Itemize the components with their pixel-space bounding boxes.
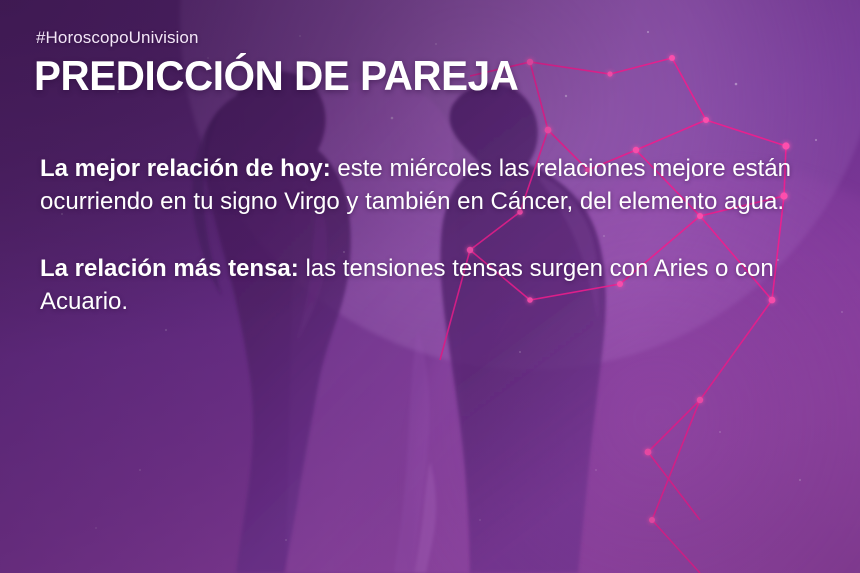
body-copy: La mejor relación de hoy: este miércoles… <box>34 152 826 318</box>
hashtag-label: #HoroscopoUnivision <box>36 28 826 48</box>
paragraph-tense-relationship: La relación más tensa: las tensiones ten… <box>40 252 826 318</box>
paragraph-lead-tense: La relación más tensa: <box>40 255 299 282</box>
paragraph-lead-best: La mejor relación de hoy: <box>40 155 331 182</box>
paragraph-best-relationship: La mejor relación de hoy: este miércoles… <box>40 152 826 218</box>
card-content: #HoroscopoUnivision PREDICCIÓN DE PAREJA… <box>0 0 860 573</box>
horoscope-card: #HoroscopoUnivision PREDICCIÓN DE PAREJA… <box>0 0 860 573</box>
page-title: PREDICCIÓN DE PAREJA <box>34 54 794 98</box>
